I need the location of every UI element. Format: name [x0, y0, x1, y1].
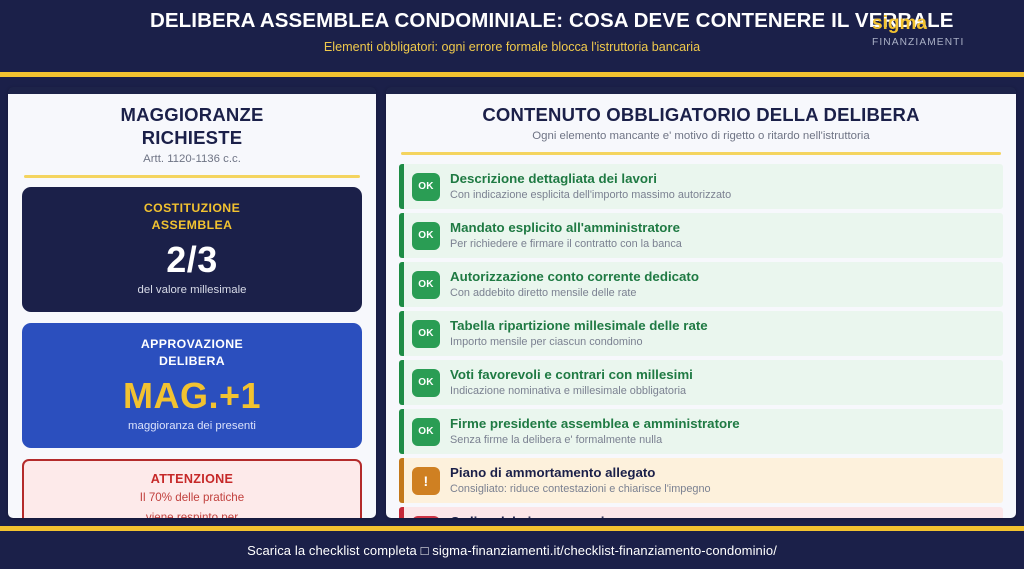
stat-label-line1: COSTITUZIONE: [32, 200, 352, 217]
list-item-title: Piano di ammortamento allegato: [450, 464, 995, 481]
list-item: OK Autorizzazione conto corrente dedicat…: [399, 262, 1003, 307]
stat-card-costituzione: COSTITUZIONE ASSEMBLEA 2/3 del valore mi…: [22, 187, 362, 312]
status-no-icon: NO: [412, 516, 440, 519]
status-warning-icon: !: [412, 467, 440, 495]
brand-logo: sigma FINANZIAMENTI: [872, 13, 1002, 50]
list-item-title: Descrizione dettagliata dei lavori: [450, 170, 995, 187]
stat-label-line2: ASSEMBLEA: [32, 217, 352, 234]
list-item-text: Firme presidente assemblea e amministrat…: [450, 415, 995, 448]
list-item: OK Descrizione dettagliata dei lavori Co…: [399, 164, 1003, 209]
list-item-text: Descrizione dettagliata dei lavori Con i…: [450, 170, 995, 203]
left-panel-title-line1: MAGGIORANZE: [22, 103, 362, 126]
list-item: OK Mandato esplicito all'amministratore …: [399, 213, 1003, 258]
list-item-text: Tabella ripartizione millesimale delle r…: [450, 317, 995, 350]
alert-title: ATTENZIONE: [34, 470, 350, 488]
status-ok-icon: OK: [412, 418, 440, 446]
list-item-text: Piano di ammortamento allegato Consiglia…: [450, 464, 995, 497]
list-item: OK Voti favorevoli e contrari con milles…: [399, 360, 1003, 405]
list-item-title: Ordine del giorno generico: [450, 513, 995, 518]
stat-label-line1: APPROVAZIONE: [32, 336, 352, 353]
list-item-text: Autorizzazione conto corrente dedicato C…: [450, 268, 995, 301]
brand-name: sigma: [872, 13, 1002, 34]
stat-footnote-costituzione: del valore millesimale: [32, 282, 352, 298]
footer-link-text[interactable]: Scarica la checklist completa □ sigma-fi…: [247, 543, 777, 558]
content-area: MAGGIORANZE RICHIESTE Artt. 1120-1136 c.…: [0, 77, 1024, 526]
right-panel-title: CONTENUTO OBBLIGATORIO DELLA DELIBERA: [399, 103, 1003, 126]
list-item-title: Tabella ripartizione millesimale delle r…: [450, 317, 995, 334]
list-item-subtitle: Per richiedere e firmare il contratto co…: [450, 237, 995, 252]
status-ok-icon: OK: [412, 271, 440, 299]
list-item-title: Autorizzazione conto corrente dedicato: [450, 268, 995, 285]
list-item-text: Voti favorevoli e contrari con millesimi…: [450, 366, 995, 399]
header-text-block: DELIBERA ASSEMBLEA CONDOMINIALE: COSA DE…: [0, 8, 1024, 56]
list-item-subtitle: Senza firme la delibera e' formalmente n…: [450, 433, 995, 448]
status-ok-icon: OK: [412, 173, 440, 201]
stat-value-approvazione: MAG.+1: [32, 374, 352, 417]
alert-line: Il 70% delle pratiche: [34, 488, 350, 508]
list-item-title: Mandato esplicito all'amministratore: [450, 219, 995, 236]
page-title: DELIBERA ASSEMBLEA CONDOMINIALE: COSA DE…: [150, 8, 874, 34]
list-item-title: Voti favorevoli e contrari con millesimi: [450, 366, 995, 383]
brand-tagline: FINANZIAMENTI: [872, 36, 1002, 50]
infographic-page: DELIBERA ASSEMBLEA CONDOMINIALE: COSA DE…: [0, 0, 1024, 559]
panel-maggioranze: MAGGIORANZE RICHIESTE Artt. 1120-1136 c.…: [8, 87, 376, 518]
list-item-text: Ordine del giorno generico Causa automat…: [450, 513, 995, 518]
left-panel-divider: [24, 175, 360, 178]
alert-line: viene respinto per: [34, 508, 350, 519]
stat-label-line2: DELIBERA: [32, 353, 352, 370]
header-bar: DELIBERA ASSEMBLEA CONDOMINIALE: COSA DE…: [0, 0, 1024, 72]
list-item-text: Mandato esplicito all'amministratore Per…: [450, 219, 995, 252]
stat-footnote-approvazione: maggioranza dei presenti: [32, 418, 352, 434]
list-item-subtitle: Consigliato: riduce contestazioni e chia…: [450, 482, 995, 497]
stat-card-approvazione: APPROVAZIONE DELIBERA MAG.+1 maggioranza…: [22, 323, 362, 448]
list-item-title: Firme presidente assemblea e amministrat…: [450, 415, 995, 432]
footer-bar: Scarica la checklist completa □ sigma-fi…: [0, 531, 1024, 569]
list-item-subtitle: Importo mensile per ciascun condomino: [450, 335, 995, 350]
alert-box-attenzione: ATTENZIONE Il 70% delle pratiche viene r…: [22, 459, 362, 518]
list-item: ! Piano di ammortamento allegato Consigl…: [399, 458, 1003, 503]
list-item: OK Firme presidente assemblea e amminist…: [399, 409, 1003, 454]
right-panel-caption: Ogni elemento mancante e' motivo di rige…: [399, 129, 1003, 144]
status-ok-icon: OK: [412, 369, 440, 397]
list-item: OK Tabella ripartizione millesimale dell…: [399, 311, 1003, 356]
stat-value-costituzione: 2/3: [32, 238, 352, 281]
checklist: OK Descrizione dettagliata dei lavori Co…: [399, 164, 1003, 518]
page-subtitle: Elementi obbligatori: ogni errore formal…: [150, 39, 874, 56]
list-item-subtitle: Con addebito diretto mensile delle rate: [450, 286, 995, 301]
list-item: NO Ordine del giorno generico Causa auto…: [399, 507, 1003, 518]
list-item-subtitle: Con indicazione esplicita dell'importo m…: [450, 188, 995, 203]
left-panel-caption: Artt. 1120-1136 c.c.: [22, 152, 362, 167]
left-panel-title-line2: RICHIESTE: [22, 126, 362, 149]
right-panel-divider: [401, 152, 1001, 155]
list-item-subtitle: Indicazione nominativa e millesimale obb…: [450, 384, 995, 399]
status-ok-icon: OK: [412, 222, 440, 250]
status-ok-icon: OK: [412, 320, 440, 348]
panel-contenuto-obbligatorio: CONTENUTO OBBLIGATORIO DELLA DELIBERA Og…: [386, 87, 1016, 518]
